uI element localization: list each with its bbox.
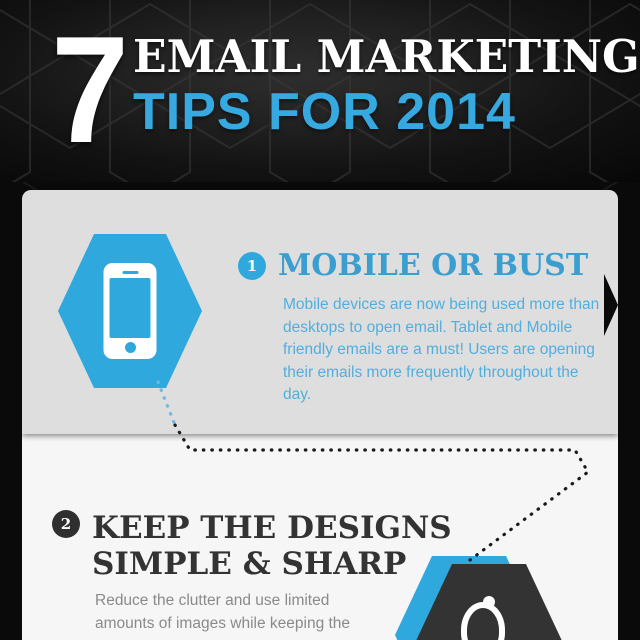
tip-1-heading: MOBILE OR BUST xyxy=(278,250,588,282)
content-stage: 1 MOBILE OR BUST Mobile devices are now … xyxy=(0,182,640,640)
smartphone-icon xyxy=(58,234,202,388)
phone-home-button xyxy=(125,342,136,353)
phone-body xyxy=(104,263,157,359)
headline-number: 7 xyxy=(51,14,123,166)
lightbulb-icon xyxy=(395,556,575,640)
right-dark-rail xyxy=(618,182,640,640)
left-dark-rail xyxy=(0,182,22,640)
bulb-tip xyxy=(483,596,495,608)
tip-1-badge: 1 xyxy=(238,252,266,280)
headline-line-2: TIPS FOR 2014 xyxy=(133,84,640,140)
headline-line-1: EMAIL MARKETING xyxy=(133,32,640,82)
phone-speaker xyxy=(122,271,138,274)
tip-2-body-text: Reduce the clutter and use limited amoun… xyxy=(95,590,385,635)
phone-screen xyxy=(110,278,151,338)
tip-2-heading-line-1: KEEP THE DESIGNS xyxy=(92,510,452,546)
tip-1-body-text: Mobile devices are now being used more t… xyxy=(283,294,608,407)
tip-1-panel: 1 MOBILE OR BUST Mobile devices are now … xyxy=(22,190,618,434)
headline-title: EMAIL MARKETING TIPS FOR 2014 xyxy=(133,32,640,140)
tip-1-heading-row: 1 MOBILE OR BUST xyxy=(238,250,588,282)
header-banner: 7 EMAIL MARKETING TIPS FOR 2014 xyxy=(0,0,640,182)
tip-2-badge: 2 xyxy=(52,510,80,538)
tip-2-heading-row: 2 KEEP THE DESIGNS SIMPLE & SHARP xyxy=(52,510,452,582)
